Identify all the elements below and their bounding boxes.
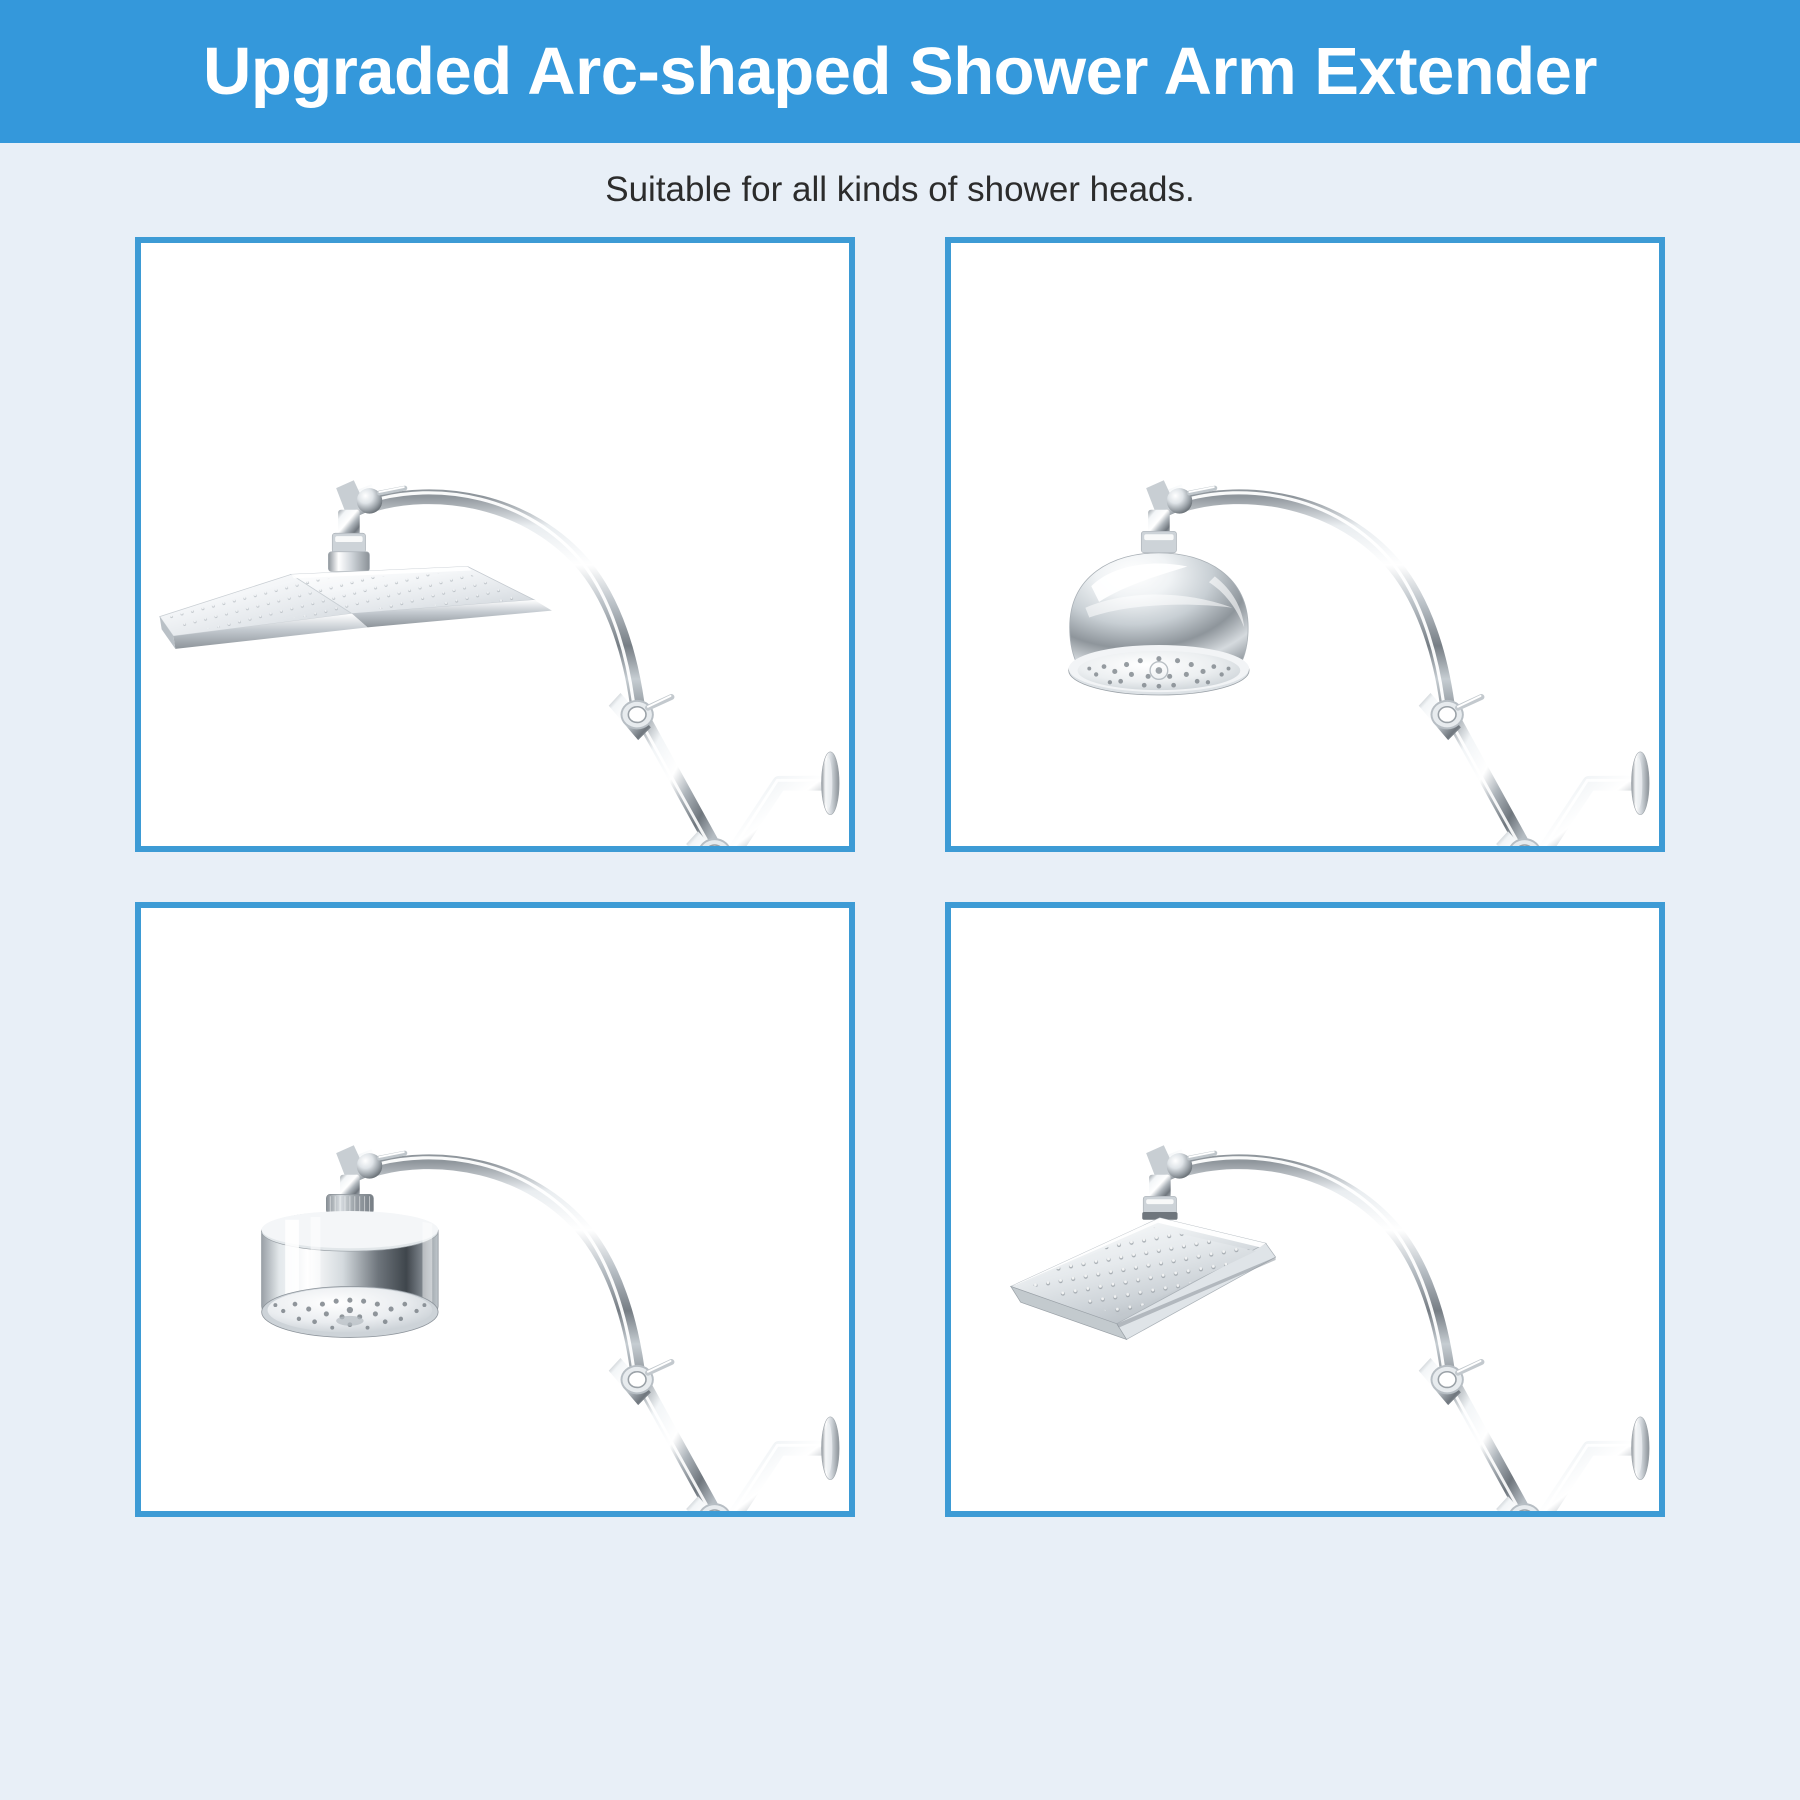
product-panel-square-rainfall[interactable] bbox=[135, 237, 855, 852]
page-root: Upgraded Arc-shaped Shower Arm Extender … bbox=[0, 0, 1800, 1800]
shower-head-dome-2 bbox=[1069, 553, 1249, 695]
shower-illustration-2 bbox=[951, 243, 1659, 846]
header-band: Upgraded Arc-shaped Shower Arm Extender bbox=[0, 0, 1800, 143]
shower-head-drum-3 bbox=[262, 1211, 438, 1337]
product-grid bbox=[135, 237, 1665, 1763]
shower-illustration-1 bbox=[141, 243, 849, 846]
product-panel-square-large[interactable] bbox=[945, 902, 1665, 1517]
product-image-square-rainfall bbox=[141, 243, 849, 846]
product-image-drum-round bbox=[141, 908, 849, 1511]
product-image-square-large bbox=[951, 908, 1659, 1511]
shower-illustration-3 bbox=[141, 908, 849, 1511]
subtitle-row: Suitable for all kinds of shower heads. bbox=[0, 143, 1800, 237]
product-panel-dome-bell[interactable] bbox=[945, 237, 1665, 852]
subtitle-text: Suitable for all kinds of shower heads. bbox=[605, 170, 1195, 210]
product-panel-drum-round[interactable] bbox=[135, 902, 855, 1517]
shower-head-square-large-4 bbox=[1011, 1218, 1276, 1340]
page-title: Upgraded Arc-shaped Shower Arm Extender bbox=[203, 38, 1597, 105]
shower-head-square-flat-1 bbox=[160, 567, 552, 649]
product-image-dome-bell bbox=[951, 243, 1659, 846]
shower-illustration-4 bbox=[951, 908, 1659, 1511]
